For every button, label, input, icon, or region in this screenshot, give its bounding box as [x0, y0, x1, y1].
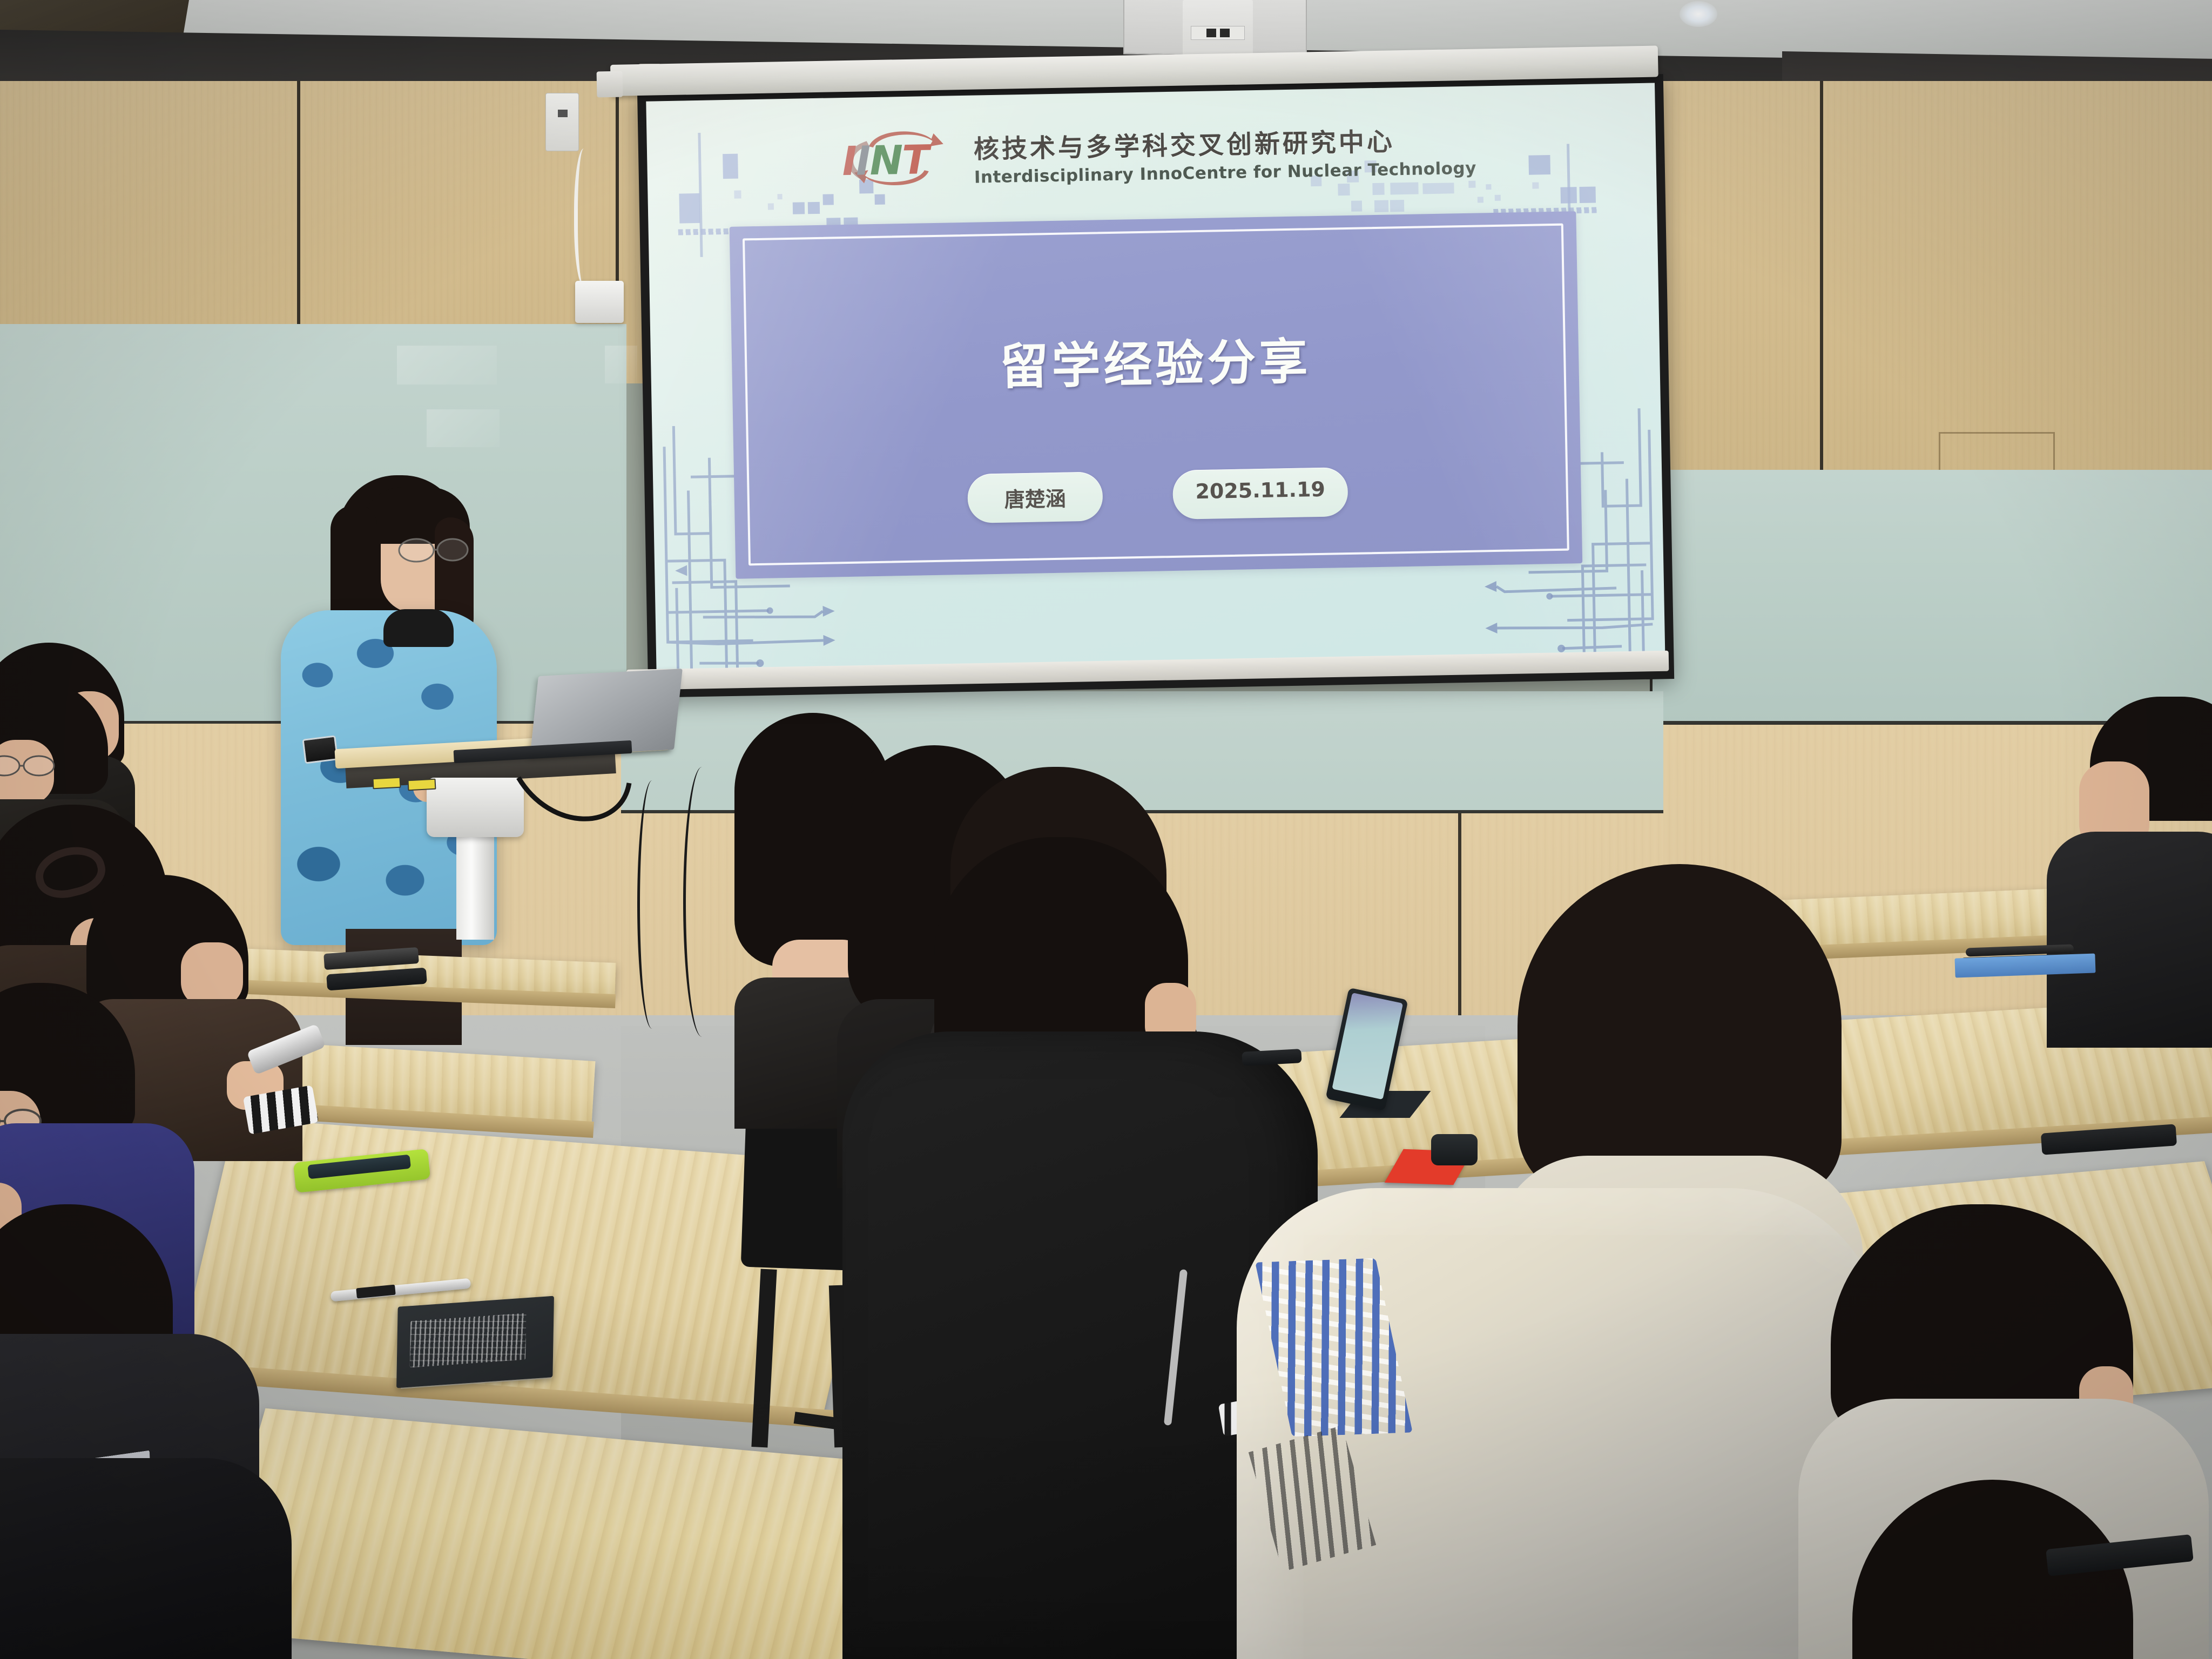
wall-seam [616, 81, 619, 313]
slide-title: 留学经验分享 [731, 317, 1579, 403]
presenter-glasses-icon [397, 536, 470, 565]
podium-cable-loop [513, 767, 637, 848]
logo-letter-i1: I [842, 138, 857, 185]
wall-speaker [575, 281, 624, 323]
audience-jacket [2047, 832, 2212, 1048]
slide-badge-row: 唐楚涵 2025.11.19 [734, 463, 1581, 528]
lecture-hall-photo: IINT 核技术与多学科交叉创新研究中心 Interdisciplinary I… [0, 0, 2212, 1659]
audience-member [1852, 1480, 2187, 1659]
slide-deco-square [1495, 195, 1501, 201]
podium-cable [683, 767, 721, 1037]
iint-logo-letters: IINT [842, 140, 929, 181]
podium-warning-label [408, 779, 436, 791]
slide-deco-square [1351, 200, 1362, 211]
slide-deco-square [1390, 200, 1404, 212]
glass-reflection [605, 346, 637, 383]
podium-cable [637, 780, 667, 1029]
ceiling-light-glow [1680, 1, 1717, 27]
wall-seam [1820, 81, 1823, 470]
earbuds-case[interactable] [1431, 1134, 1478, 1165]
audience-member [1237, 1080, 1885, 1659]
podium-height-adjust-hub[interactable] [427, 778, 524, 837]
slide-deco-square [1478, 197, 1483, 203]
screen-roller-endcap [597, 71, 623, 98]
wall-seam [1458, 813, 1461, 1040]
dark-notebook[interactable] [396, 1296, 554, 1388]
audience-glasses-icon [0, 753, 56, 778]
podium-column [456, 832, 494, 940]
presenter-name-badge: 唐楚涵 [967, 471, 1103, 523]
slide-content-panel: 留学经验分享 唐楚涵 2025.11.19 [730, 211, 1583, 579]
notebook-cover-print [410, 1313, 527, 1367]
organization-logo: IINT 核技术与多学科交叉创新研究中心 Interdisciplinary I… [837, 118, 1476, 191]
glass-reflection [427, 409, 500, 447]
projection-screen: IINT 核技术与多学科交叉创新研究中心 Interdisciplinary I… [637, 74, 1674, 698]
audience-member [0, 1458, 292, 1659]
logo-letter-i2: I [855, 138, 870, 184]
slide-header: IINT 核技术与多学科交叉创新研究中心 Interdisciplinary I… [646, 99, 1657, 209]
organization-name-block: 核技术与多学科交叉创新研究中心 Interdisciplinary InnoCe… [973, 119, 1476, 187]
audience-member [2068, 697, 2212, 1042]
power-cord [574, 149, 596, 286]
presenter-sleeve-patch [302, 735, 338, 764]
logo-letter-t: T [902, 137, 929, 184]
projector-mount-ports [1191, 26, 1245, 40]
glass-reflection [397, 346, 497, 385]
logo-letter-n: N [869, 137, 903, 184]
wall-power-outlet[interactable] [545, 93, 579, 151]
wood-wall-right [1653, 81, 2212, 470]
presentation-slide: IINT 核技术与多学科交叉创新研究中心 Interdisciplinary I… [646, 83, 1665, 685]
presentation-date-badge: 2025.11.19 [1172, 467, 1348, 520]
audience-jacket [0, 1458, 292, 1659]
presenter-collar [383, 609, 454, 647]
podium-warning-label [373, 777, 401, 790]
iint-logo-mark: IINT [837, 127, 962, 190]
slide-deco-square [1374, 200, 1388, 212]
frosted-glass-panel-right [1653, 470, 2212, 724]
organization-name-cn: 核技术与多学科交叉创新研究中心 [973, 119, 1476, 165]
